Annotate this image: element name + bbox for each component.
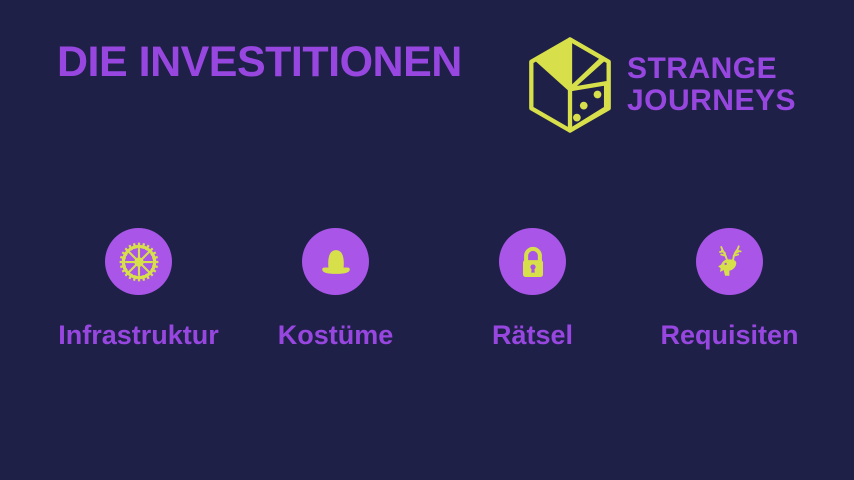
brand-wordmark: STRANGE JOURNEYS (627, 53, 796, 117)
brand-logo: STRANGE JOURNEYS (527, 36, 796, 134)
brand-line-2: JOURNEYS (627, 85, 796, 117)
deer-icon (710, 242, 750, 282)
item-raetsel: Rätsel (434, 228, 631, 349)
brand-line-1: STRANGE (627, 53, 796, 85)
item-label: Requisiten (660, 322, 798, 349)
item-kostueme: Kostüme (237, 228, 434, 349)
item-badge (696, 228, 763, 295)
item-badge (105, 228, 172, 295)
item-label: Infrastruktur (58, 322, 219, 349)
isometric-cube-die-logo-icon (527, 36, 613, 134)
gear-icon (119, 242, 159, 282)
item-infrastruktur: Infrastruktur (40, 228, 237, 349)
page-title: DIE INVESTITIONEN (57, 41, 462, 84)
investment-items-row: Infrastruktur Kostüme Rätsel (0, 228, 854, 349)
item-badge (302, 228, 369, 295)
presentation-slide: DIE INVESTITIONEN STRANGE JOURNEYS (0, 0, 854, 480)
lock-icon (513, 242, 553, 282)
item-label: Kostüme (278, 322, 394, 349)
item-label: Rätsel (492, 322, 573, 349)
item-requisiten: Requisiten (631, 228, 828, 349)
hat-icon (316, 242, 356, 282)
item-badge (499, 228, 566, 295)
